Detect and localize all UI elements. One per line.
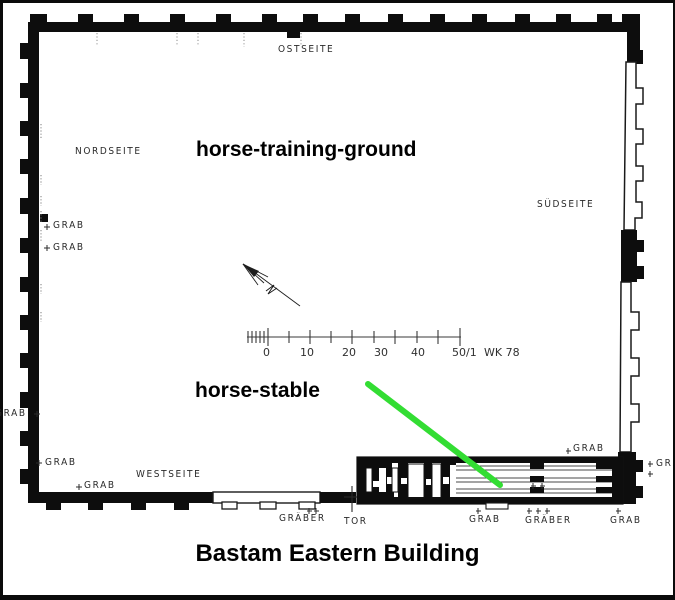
label-graeber-s-2: GRÄBER	[525, 516, 572, 527]
label-grab-sw-2: GRAB	[84, 481, 116, 492]
scale-tick-40: 40	[411, 346, 425, 359]
label-suedseite: SÜDSEITE	[537, 200, 594, 211]
label-ostseite: OSTSEITE	[278, 45, 334, 56]
site-plan-figure: OSTSEITE NORDSEITE SÜDSEITE WESTSEITE GR…	[0, 0, 675, 600]
label-grab-s-1: GRAB	[469, 515, 501, 526]
scale-tick-0: 0	[263, 346, 270, 359]
scale-tick-10: 10	[300, 346, 314, 359]
annotation-horse-stable: horse-stable	[195, 379, 320, 403]
label-grab-e-edge: GR	[656, 459, 672, 470]
label-grab-nw-1: GRAB	[53, 221, 85, 232]
label-tor: TOR	[344, 517, 368, 528]
label-grab-e-upper: GRAB	[573, 444, 605, 455]
label-graeber-s-1: GRÄBER	[279, 514, 326, 525]
label-grab-s-2: GRAB	[610, 516, 642, 527]
page-title: Bastam Eastern Building	[0, 540, 675, 568]
label-nordseite: NORDSEITE	[75, 147, 142, 158]
label-westseite: WESTSEITE	[136, 470, 201, 481]
label-grab-sw-1: GRAB	[45, 458, 77, 469]
annotation-horse-training-ground: horse-training-ground	[196, 138, 416, 162]
label-grab-w-edge: GRAB	[0, 409, 27, 420]
label-grab-nw-2: GRAB	[53, 243, 85, 254]
scale-tick-30: 30	[374, 346, 388, 359]
scale-end-label: 50/1	[452, 346, 477, 359]
horse-stable-leader-line	[0, 0, 675, 600]
scale-tick-20: 20	[342, 346, 356, 359]
scale-credit: WK 78	[484, 346, 520, 359]
